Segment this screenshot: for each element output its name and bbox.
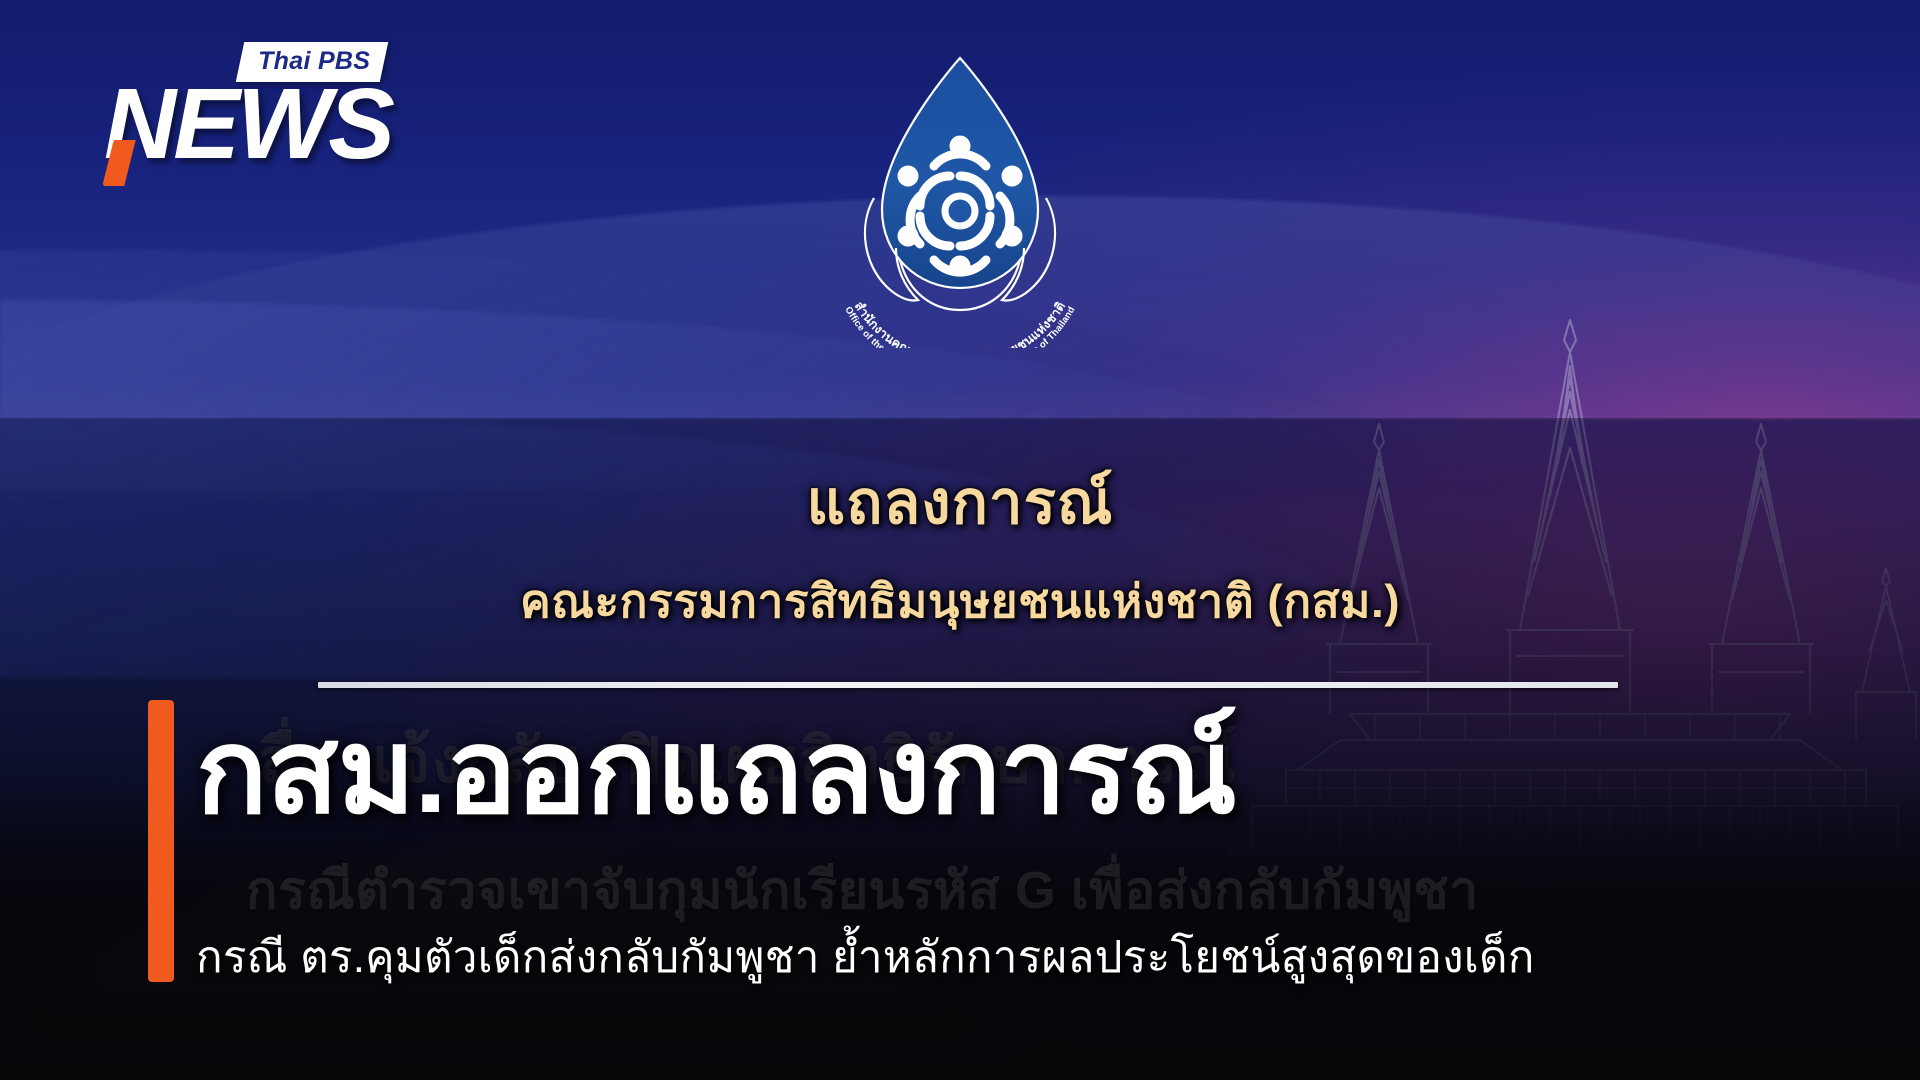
- thai-pbs-news-logo: Thai PBS NEWS: [104, 36, 404, 186]
- ghost-text-line-2: กรณีตำรวจเขาจับกุมนักเรียนรหัส G เพื่อส่…: [246, 848, 1479, 931]
- kicker-line-2: คณะกรรมการสิทธิมนุษยชนแห่งชาติ (กสม.): [0, 565, 1920, 638]
- news-wordmark: NEWS: [104, 74, 392, 174]
- svg-text:สำนักงานคณะกรรมการสิทธิมนุษยชน: สำนักงานคณะกรรมการสิทธิมนุษยชนแห่งชาติ: [852, 299, 1068, 348]
- subtitle-text: กรณี ตร.คุมตัวเด็กส่งกลับกัมพูชา ย้ำหลัก…: [196, 922, 1535, 992]
- news-graphic-canvas: Thai PBS NEWS: [0, 0, 1920, 1080]
- emblem-ring-text-thai: สำนักงานคณะกรรมการสิทธิมนุษยชนแห่งชาติ: [852, 299, 1068, 348]
- kicker-line-1: แถลงการณ์: [0, 455, 1920, 550]
- main-headline: กสม.ออกแถลงการณ์: [196, 712, 1236, 832]
- headline-divider-rule: [318, 682, 1618, 688]
- nhrc-emblem-icon: สำนักงานคณะกรรมการสิทธิมนุษยชนแห่งชาติ O…: [800, 48, 1120, 348]
- orange-accent-bar: [148, 700, 174, 982]
